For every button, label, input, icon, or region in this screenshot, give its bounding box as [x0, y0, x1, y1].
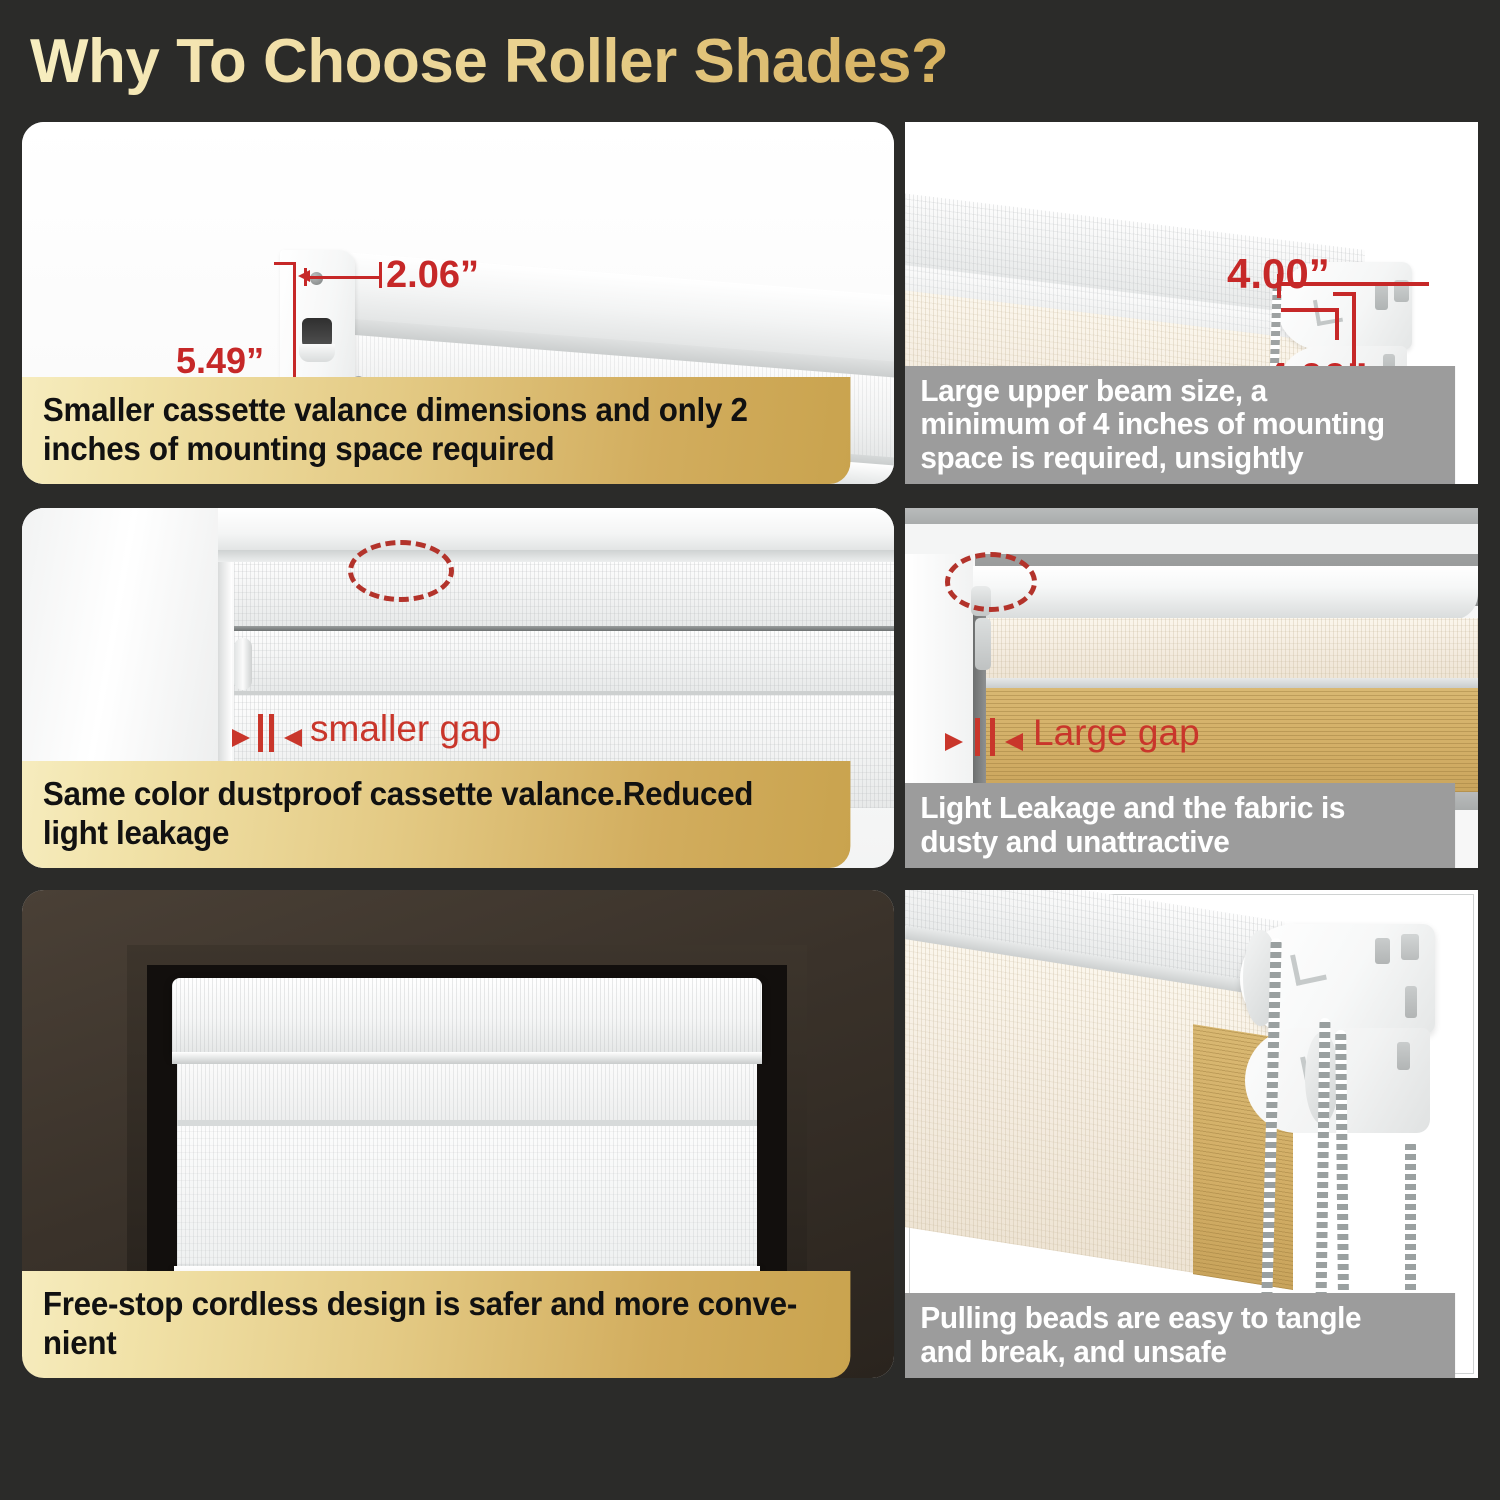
- dimension-arrow-left-icon: [298, 270, 310, 282]
- panel-light-leakage: Large gap Light Leakage and the fabric i…: [905, 508, 1478, 868]
- bracket-glyph-icon: [1290, 949, 1327, 986]
- caption-line: dusty and unattractive: [920, 825, 1439, 858]
- gap-tick-left: [258, 714, 263, 752]
- dimension-line-horizontal: [304, 276, 382, 279]
- caption-line: space is required, unsightly: [920, 441, 1439, 474]
- panel-free-stop-cordless: Free-stop cordless design is safer and m…: [22, 890, 894, 1378]
- gap-arrow-right-icon: [945, 733, 963, 751]
- caption-line: and break, and unsafe: [920, 1335, 1439, 1368]
- panel-dustproof-cassette-valance: smaller gap Same color dustproof cassett…: [22, 508, 894, 868]
- gap-label-large: Large gap: [1033, 712, 1200, 754]
- gap-arrow-left-icon: [284, 729, 302, 747]
- gap-label-smaller: smaller gap: [310, 708, 501, 750]
- caption-line: light leakage: [43, 814, 830, 852]
- dimension-tick-mid: [1335, 310, 1339, 340]
- gap-tick-left: [975, 718, 980, 756]
- gap-tick-right: [990, 718, 995, 756]
- caption-line: Smaller cassette valance dimensions and …: [43, 391, 830, 429]
- dimension-tick-top: [274, 262, 296, 265]
- dimension-tick-right: [379, 262, 382, 288]
- gap-tick-right: [269, 714, 274, 752]
- caption-line: Light Leakage and the fabric is: [920, 791, 1439, 824]
- panel-large-upper-beam: 4.00” 4.00” Large upper beam size, a min…: [905, 122, 1478, 484]
- dimension-width-label: 2.06”: [386, 254, 479, 297]
- caption-line: Free-stop cordless design is safer and m…: [43, 1285, 830, 1323]
- dimension-tick-top: [1333, 292, 1356, 296]
- caption-large-upper-beam: Large upper beam size, a minimum of 4 in…: [905, 366, 1455, 484]
- caption-line: Large upper beam size, a: [920, 374, 1439, 407]
- highlight-ellipse: [945, 552, 1037, 612]
- infographic-root: Why To Choose Roller Shades?: [0, 0, 1500, 1500]
- caption-light-leakage: Light Leakage and the fabric is dusty an…: [905, 783, 1455, 868]
- caption-free-stop-cordless: Free-stop cordless design is safer and m…: [22, 1271, 850, 1378]
- highlight-ellipse: [348, 540, 454, 602]
- gap-arrow-left-icon: [1005, 733, 1023, 751]
- dimension-height-label: 5.49”: [176, 340, 264, 382]
- caption-line: nient: [43, 1324, 830, 1362]
- panel-pulling-beads: Pulling beads are easy to tangle and bre…: [905, 890, 1478, 1378]
- caption-line: minimum of 4 inches of mounting: [920, 407, 1439, 440]
- page-title: Why To Choose Roller Shades?: [30, 22, 1130, 102]
- dimension-line-horizontal-2: [1281, 308, 1339, 312]
- gap-arrow-right-icon: [232, 729, 250, 747]
- dimension-width-label: 4.00”: [1227, 250, 1330, 298]
- caption-dustproof-cassette-valance: Same color dustproof cassette valance.Re…: [22, 761, 850, 868]
- panel-smaller-cassette-valance: 5.49” 2.06” Smaller cassette valance dim…: [22, 122, 894, 484]
- caption-line: Pulling beads are easy to tangle: [920, 1301, 1439, 1334]
- caption-line: Same color dustproof cassette valance.Re…: [43, 775, 830, 813]
- caption-smaller-cassette-valance: Smaller cassette valance dimensions and …: [22, 377, 850, 484]
- caption-line: inches of mounting space required: [43, 430, 830, 468]
- caption-pulling-beads: Pulling beads are easy to tangle and bre…: [905, 1293, 1455, 1378]
